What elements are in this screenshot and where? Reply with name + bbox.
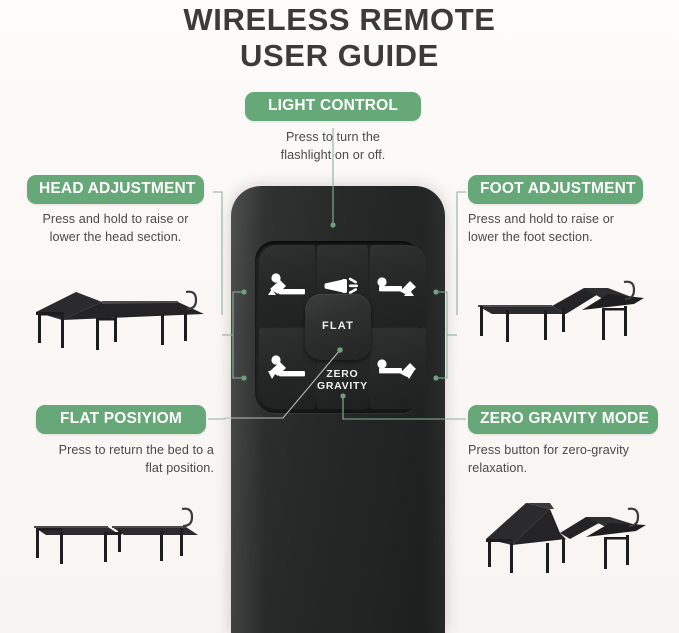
badge-head-adjustment: HEAD ADJUSTMENT: [27, 175, 204, 204]
connector-foot-label: [457, 192, 466, 315]
remote-key-grid: ZERO GRAVITY FLAT: [259, 245, 417, 409]
connector-flat-label: [208, 418, 225, 419]
zero-gravity-label-line1: ZERO: [326, 368, 358, 380]
button-foot-up[interactable]: [370, 245, 426, 326]
person-foot-raised-up-icon: [370, 269, 426, 303]
illustration-foot-raised-bed: [466, 258, 666, 358]
illustration-zero-gravity-bed: [466, 483, 666, 581]
illustration-flat-bed: [20, 487, 216, 579]
person-head-raised-up-icon: [259, 269, 315, 303]
desc-flat-position: Press to return the bed to a flat positi…: [14, 441, 214, 477]
user-guide-page: WIRELESS REMOTE USER GUIDE LIGHT CONTROL…: [0, 0, 679, 633]
zero-gravity-label-line2: GRAVITY: [317, 380, 368, 392]
desc-light-control: Press to turn the flashlight on or off.: [243, 128, 423, 164]
person-foot-raised-down-icon: [370, 352, 426, 386]
remote-right-highlight: [423, 186, 445, 633]
person-head-raised-down-icon: [259, 352, 315, 386]
button-flat[interactable]: FLAT: [305, 294, 371, 360]
desc-foot-adjustment: Press and hold to raise or lower the foo…: [468, 210, 668, 246]
desc-zero-gravity: Press button for zero-gravity relaxation…: [468, 441, 673, 477]
button-foot-down[interactable]: [370, 328, 426, 409]
desc-head-adjustment: Press and hold to raise or lower the hea…: [18, 210, 213, 246]
badge-zero-gravity: ZERO GRAVITY MODE: [468, 405, 658, 434]
illustration-head-raised-bed: [18, 258, 216, 358]
badge-flat-position: FLAT POSIYIOM: [36, 405, 206, 434]
badge-light-control: LIGHT CONTROL: [245, 92, 421, 121]
page-title: WIRELESS REMOTE USER GUIDE: [0, 0, 679, 74]
badge-foot-adjustment: FOOT ADJUSTMENT: [468, 175, 643, 204]
flat-label: FLAT: [322, 321, 354, 333]
title-line-1: WIRELESS REMOTE: [0, 2, 679, 38]
title-line-2: USER GUIDE: [0, 38, 679, 74]
remote-control-body: ZERO GRAVITY FLAT: [231, 186, 445, 633]
remote-keypad: ZERO GRAVITY FLAT: [255, 241, 421, 413]
